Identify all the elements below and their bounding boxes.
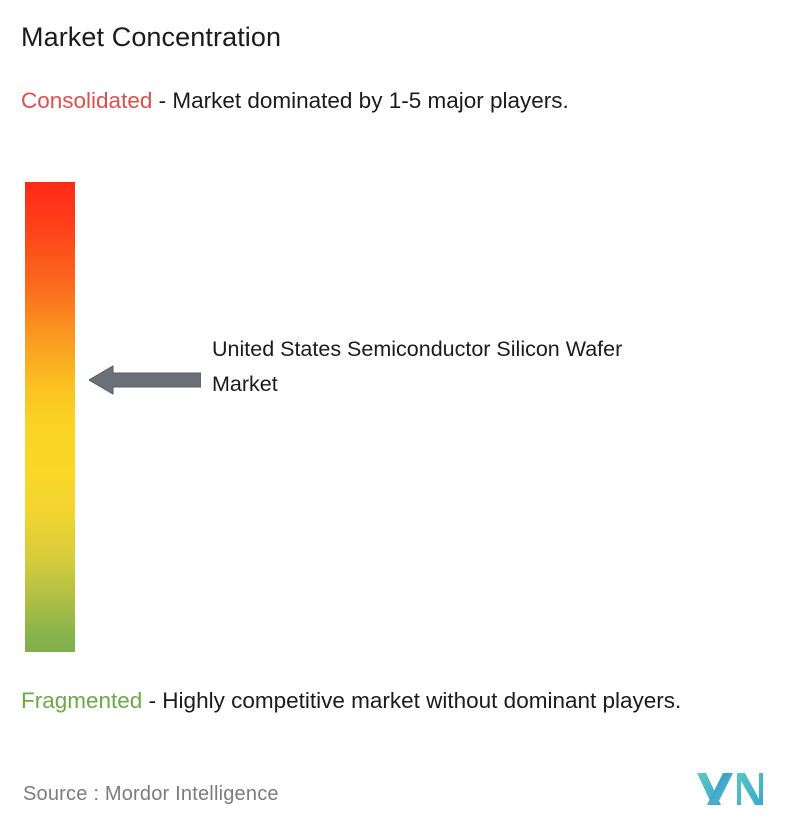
source-attribution: Source : Mordor Intelligence — [23, 783, 279, 806]
legend-consolidated: Consolidated - Market dominated by 1-5 m… — [21, 85, 761, 117]
page-title: Market Concentration — [21, 20, 281, 54]
legend-fragmented-keyword: Fragmented — [21, 688, 142, 713]
concentration-gradient-bar — [25, 182, 75, 652]
legend-fragmented-description: - Highly competitive market without domi… — [142, 688, 681, 713]
legend-consolidated-keyword: Consolidated — [21, 88, 152, 113]
callout-market-label: United States Semiconductor Silicon Wafe… — [212, 332, 632, 402]
legend-fragmented: Fragmented - Highly competitive market w… — [21, 685, 786, 717]
mordor-intelligence-logo — [697, 769, 763, 809]
market-concentration-infographic: Market Concentration Consolidated - Mark… — [0, 0, 796, 834]
arrow-left-icon — [89, 365, 201, 395]
legend-consolidated-description: - Market dominated by 1-5 major players. — [152, 88, 568, 113]
